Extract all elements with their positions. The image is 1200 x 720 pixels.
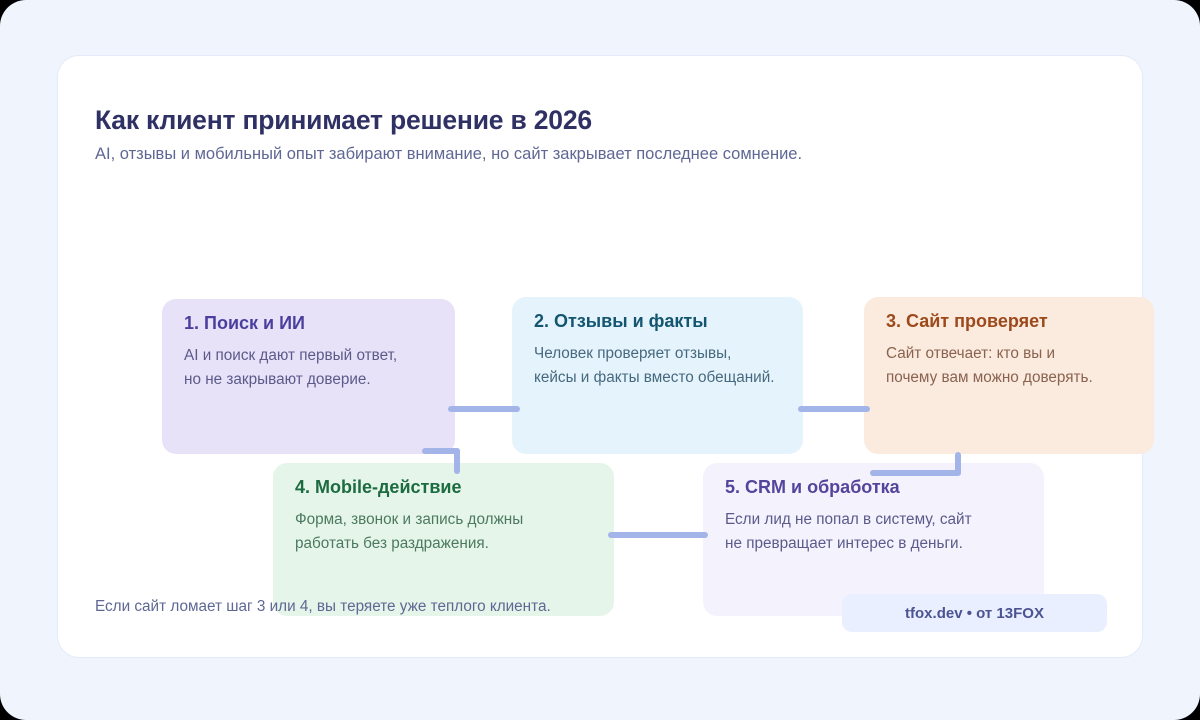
step-card-2-body: Человек проверяет отзывы, кейсы и факты …: [534, 342, 775, 390]
connector-step1-step2: [448, 406, 520, 412]
step-card-4[interactable]: 4. Mobile-действие Форма, звонок и запис…: [273, 463, 614, 616]
step-card-3[interactable]: 3. Сайт проверяет Сайт отвечает: кто вы …: [864, 297, 1154, 454]
step-card-3-body: Сайт отвечает: кто вы и почему вам можно…: [886, 342, 1093, 390]
source-badge[interactable]: tfox.dev • от 13FOX: [842, 594, 1107, 632]
step-card-1[interactable]: 1. Поиск и ИИ AI и поиск дают первый отв…: [162, 299, 455, 454]
source-badge-label: tfox.dev • от 13FOX: [905, 605, 1044, 622]
step-card-2-title: 2. Отзывы и факты: [534, 311, 708, 332]
step-card-1-title: 1. Поиск и ИИ: [184, 313, 305, 334]
step-card-2[interactable]: 2. Отзывы и факты Человек проверяет отзы…: [512, 297, 803, 454]
connector-step4-step5: [608, 532, 708, 538]
connector-step2-step3: [798, 406, 870, 412]
page-title: Как клиент принимает решение в 2026: [95, 105, 592, 136]
step-card-3-title: 3. Сайт проверяет: [886, 311, 1048, 332]
step-card-5-title: 5. CRM и обработка: [725, 477, 900, 498]
connector-step1-step4-horizontal: [422, 448, 460, 454]
infographic-panel: Как клиент принимает решение в 2026 AI, …: [57, 55, 1143, 658]
footer-note: Если сайт ломает шаг 3 или 4, вы теряете…: [95, 598, 551, 616]
step-card-4-title: 4. Mobile-действие: [295, 477, 461, 498]
step-card-4-body: Форма, звонок и запись должны работать б…: [295, 508, 523, 556]
connector-step3-step5-horizontal: [870, 470, 960, 476]
page-subtitle: AI, отзывы и мобильный опыт забирают вни…: [95, 145, 802, 164]
step-card-5-body: Если лид не попал в систему, сайт не пре…: [725, 508, 972, 556]
page-root: Как клиент принимает решение в 2026 AI, …: [0, 0, 1200, 720]
step-card-1-body: AI и поиск дают первый ответ, но не закр…: [184, 344, 397, 392]
